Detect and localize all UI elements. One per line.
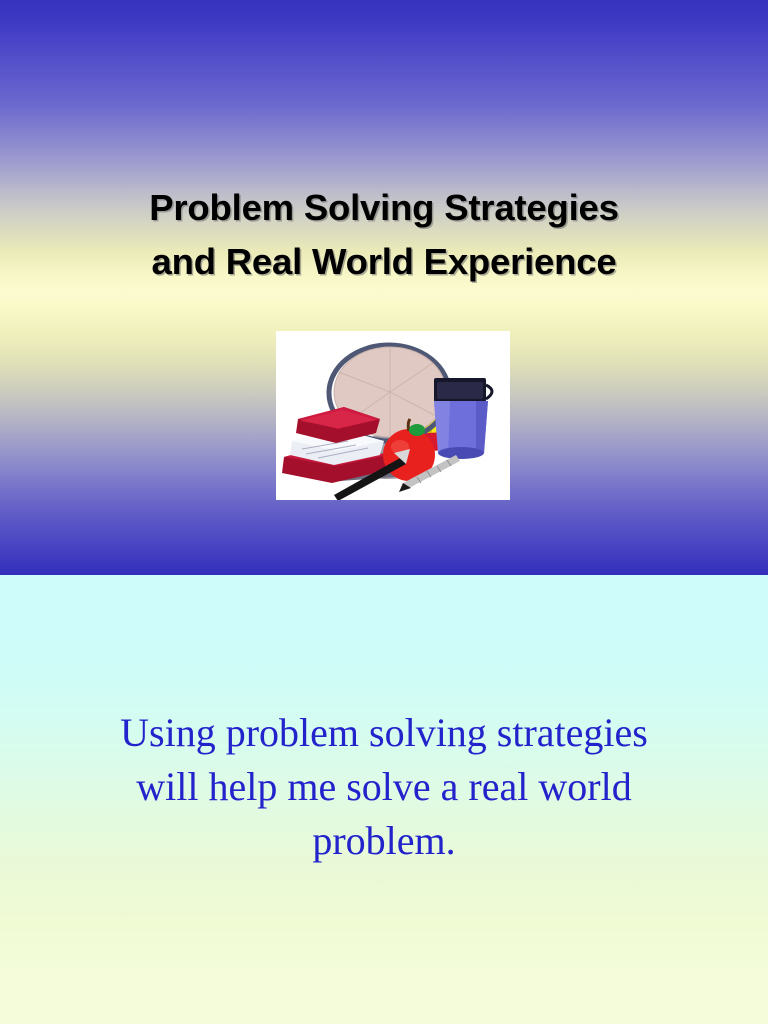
stack-of-red-books-icon (282, 407, 388, 483)
presentation-slide-page: Problem Solving Strategies and Real Worl… (0, 0, 768, 1024)
subtitle-line-2: will help me solve a real world (48, 760, 720, 814)
title-line-2: and Real World Experience (0, 235, 768, 289)
title-slide-panel: Problem Solving Strategies and Real Worl… (0, 0, 768, 575)
subtitle-line-1: Using problem solving strategies (48, 706, 720, 760)
school-supplies-clipart (276, 331, 510, 500)
title-line-1: Problem Solving Strategies (0, 181, 768, 235)
school-supplies-illustration (276, 331, 510, 500)
subtitle-slide-panel: Using problem solving strategies will he… (0, 575, 768, 1024)
slide-title: Problem Solving Strategies and Real Worl… (0, 181, 768, 289)
blue-pencil-cup-icon (434, 378, 492, 459)
slide-subtitle: Using problem solving strategies will he… (48, 706, 720, 868)
subtitle-line-3: problem. (48, 814, 720, 868)
